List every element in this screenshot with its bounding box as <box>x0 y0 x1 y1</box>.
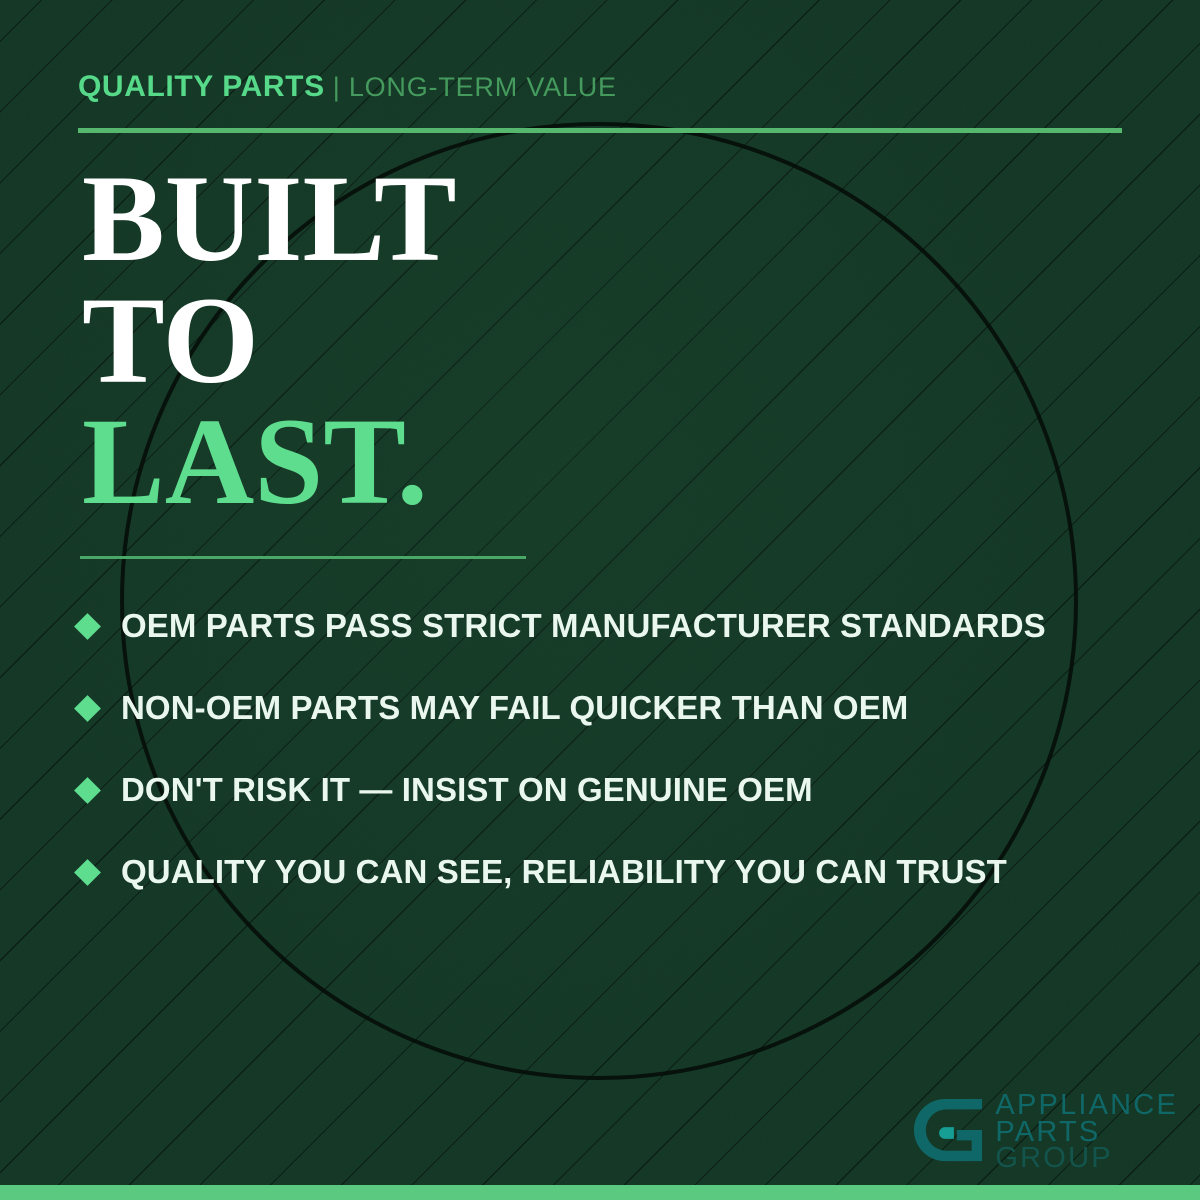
kicker-main-text: QUALITY PARTS <box>78 70 325 103</box>
headline-line-2: TO <box>82 280 457 402</box>
bottom-accent-bar <box>0 1185 1200 1200</box>
kicker-sub-text: | LONG-TERM VALUE <box>333 72 617 102</box>
appliance-parts-group-g-icon <box>911 1096 985 1170</box>
brand-logo: APPLIANCE PARTS GROUP <box>911 1092 1178 1172</box>
list-item: NON-OEM PARTS MAY FAIL QUICKER THAN OEM <box>78 667 1148 749</box>
headline-line-3: LAST. <box>82 401 457 523</box>
logo-line-group: GROUP <box>995 1145 1178 1172</box>
diamond-bullet-icon <box>74 695 101 722</box>
logo-line-parts: PARTS <box>995 1119 1178 1146</box>
list-item: DON'T RISK IT — INSIST ON GENUINE OEM <box>78 749 1148 831</box>
headline-divider-rule <box>80 556 526 559</box>
list-item: QUALITY YOU CAN SEE, RELIABILITY YOU CAN… <box>78 831 1148 913</box>
diamond-bullet-icon <box>74 859 101 886</box>
list-item-label: DON'T RISK IT — INSIST ON GENUINE OEM <box>121 771 813 809</box>
brand-logo-wordmark: APPLIANCE PARTS GROUP <box>995 1092 1178 1172</box>
header-kicker: QUALITY PARTS| LONG-TERM VALUE <box>78 72 617 102</box>
diamond-bullet-icon <box>74 613 101 640</box>
list-item-label: QUALITY YOU CAN SEE, RELIABILITY YOU CAN… <box>121 853 1007 891</box>
headline-line-1: BUILT <box>82 158 457 280</box>
list-item-label: OEM PARTS PASS STRICT MANUFACTURER STAND… <box>121 607 1046 645</box>
promo-poster: QUALITY PARTS| LONG-TERM VALUE BUILT TO … <box>0 0 1200 1200</box>
diamond-bullet-icon <box>74 777 101 804</box>
benefits-list: OEM PARTS PASS STRICT MANUFACTURER STAND… <box>78 585 1148 913</box>
logo-line-appliance: APPLIANCE <box>995 1092 1178 1119</box>
page-title: BUILT TO LAST. <box>82 158 457 523</box>
header-divider-rule <box>78 128 1122 133</box>
list-item-label: NON-OEM PARTS MAY FAIL QUICKER THAN OEM <box>121 689 908 727</box>
list-item: OEM PARTS PASS STRICT MANUFACTURER STAND… <box>78 585 1148 667</box>
